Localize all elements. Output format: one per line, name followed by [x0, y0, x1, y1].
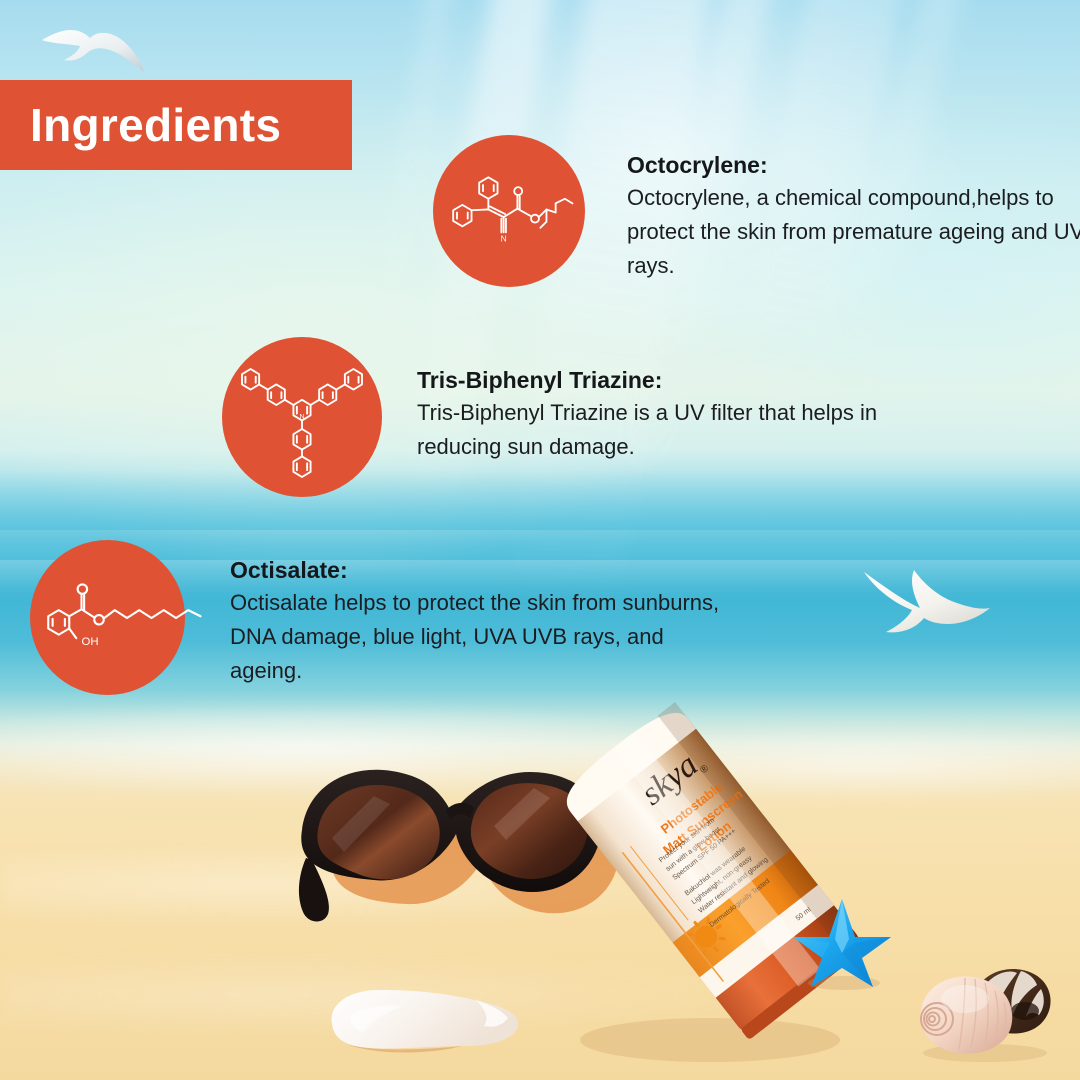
ingredient-description: Tris-Biphenyl Triazine is a UV filter th…: [417, 396, 887, 464]
octocrylene-molecule-icon: N: [444, 156, 574, 266]
page-title: Ingredients: [0, 102, 281, 148]
ingredient-icon-badge: N: [433, 135, 585, 287]
ingredient-name: Octisalate:: [230, 555, 730, 586]
ingredient-item-octisalate: OH Octisalate: Octisalate helps to prote…: [30, 540, 730, 695]
cream-swatch-icon: [326, 978, 521, 1058]
ingredient-text-block: Tris-Biphenyl Triazine: Tris-Biphenyl Tr…: [417, 337, 887, 464]
ingredient-name: Tris-Biphenyl Triazine:: [417, 365, 887, 396]
starfish-icon: [792, 895, 892, 990]
svg-text:N: N: [501, 234, 507, 244]
ingredient-icon-badge: OH: [30, 540, 185, 695]
ingredient-description: Octocrylene, a chemical compound,helps t…: [627, 181, 1080, 283]
ingredient-item-octocrylene: N Octocrylene: Octocrylene, a chemical c…: [433, 135, 1080, 287]
seagull-icon: [38, 24, 146, 76]
sunscreen-tube: skya ® Photostable Matt Sunscreen Lotion…: [560, 700, 890, 1070]
seashells-group: [905, 945, 1065, 1065]
product-scene: skya ® Photostable Matt Sunscreen Lotion…: [0, 690, 1080, 1080]
ingredient-name: Octocrylene:: [627, 150, 1080, 181]
seagull-icon: [862, 562, 992, 644]
ingredients-banner: Ingredients: [0, 80, 352, 170]
svg-text:OH: OH: [81, 636, 98, 648]
ingredient-description: Octisalate helps to protect the skin fro…: [230, 586, 730, 688]
tris-biphenyl-triazine-molecule-icon: N: [242, 357, 362, 477]
octisalate-molecule-icon: OH: [32, 568, 207, 668]
ingredient-text-block: Octisalate: Octisalate helps to protect …: [230, 540, 730, 688]
ingredient-text-block: Octocrylene: Octocrylene, a chemical com…: [627, 135, 1080, 283]
ingredient-icon-badge: N: [222, 337, 382, 497]
beach-ingredients-infographic: Ingredients: [0, 0, 1080, 1080]
seashell-icon: [921, 976, 1013, 1053]
ingredient-item-tris-biphenyl-triazine: N: [222, 337, 887, 497]
